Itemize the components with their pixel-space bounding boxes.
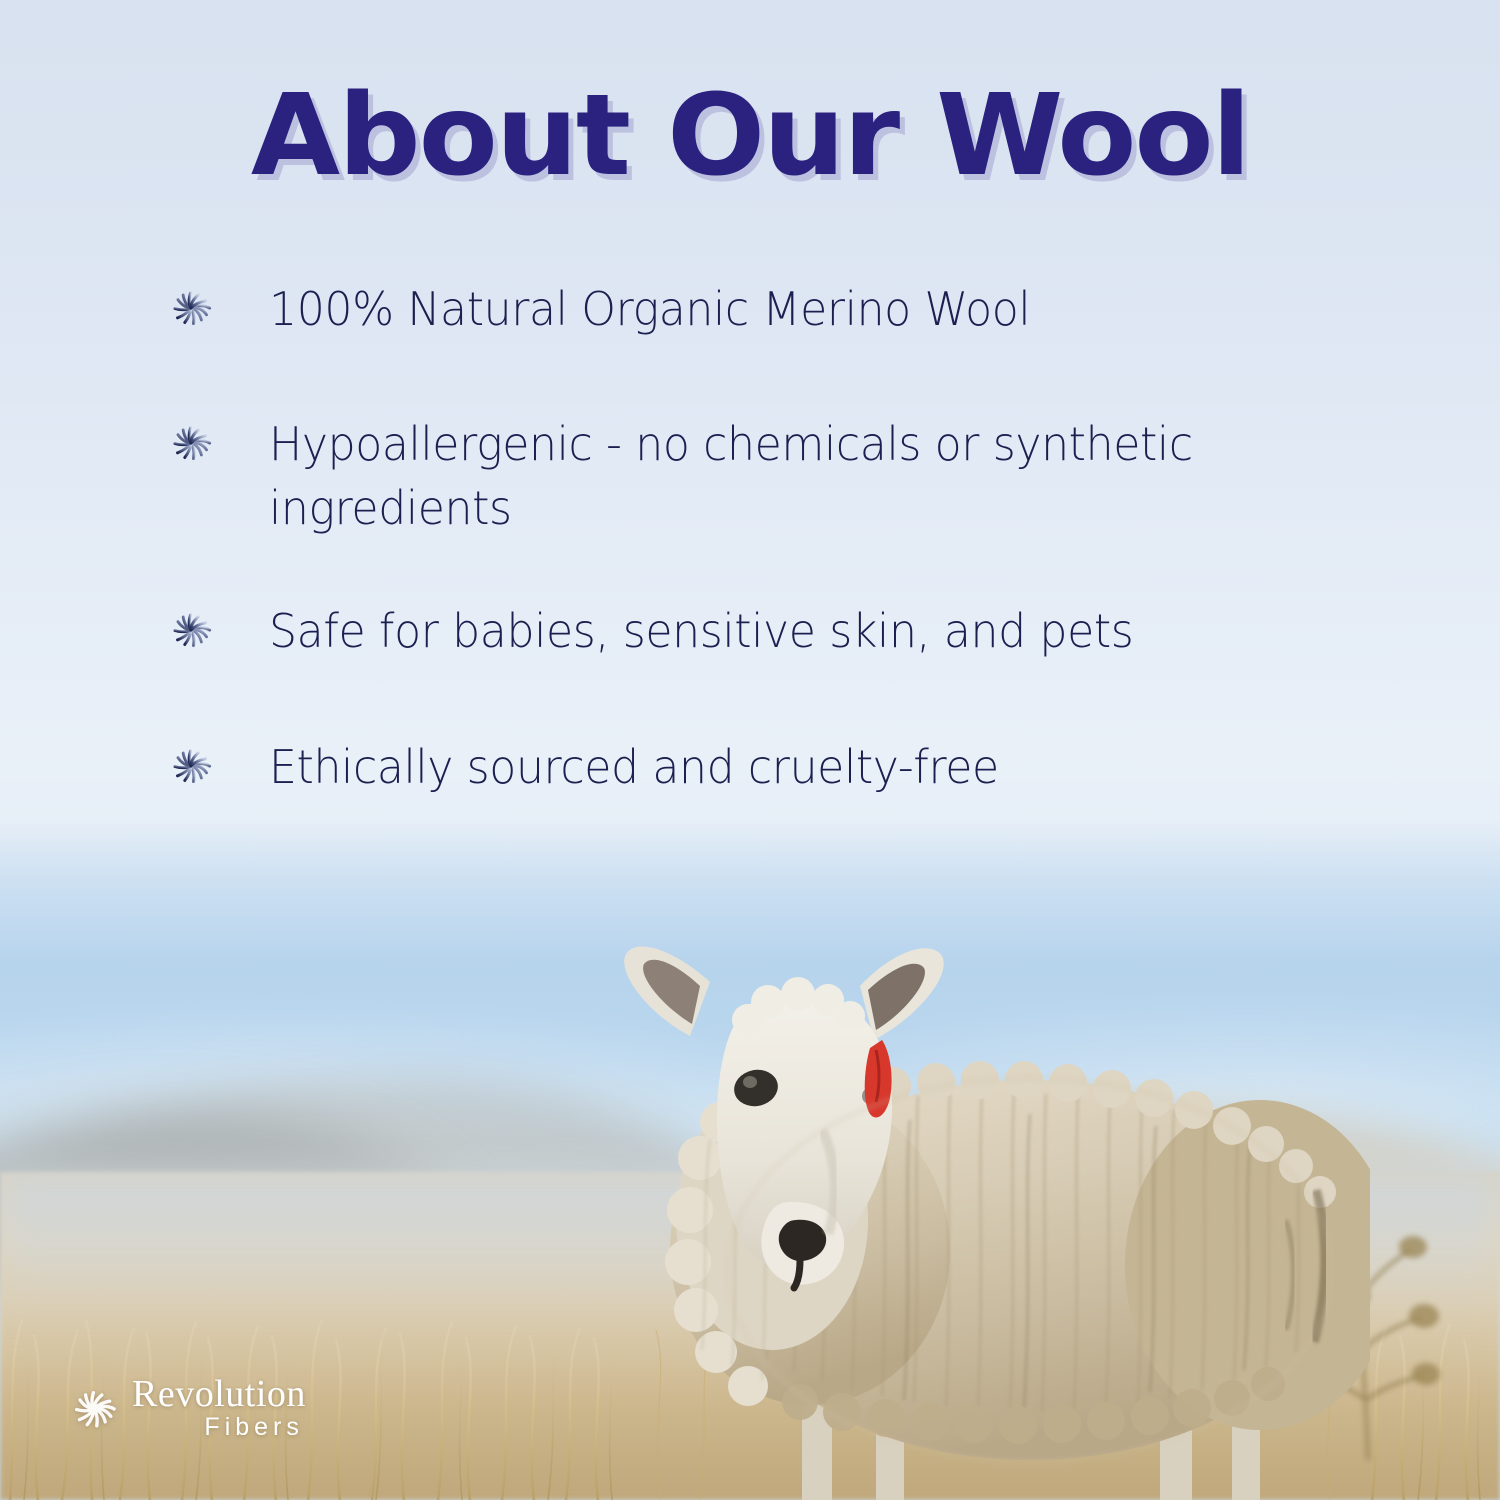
fiber-swirl-icon (165, 282, 217, 334)
brand-logo: Revolution Fibers (66, 1376, 306, 1442)
list-item: Safe for babies, sensitive skin, and pet… (165, 600, 1320, 663)
fiber-swirl-icon (165, 604, 217, 656)
feature-list: 100% Natural Organic Merino Wool (165, 278, 1320, 871)
list-item-label: Hypoallergenic - no chemicals or synthet… (269, 413, 1248, 540)
brand-subname: Fibers (132, 1413, 306, 1442)
list-item: Hypoallergenic - no chemicals or synthet… (165, 413, 1320, 540)
brand-wordmark: Revolution Fibers (132, 1376, 306, 1442)
brand-name: Revolution (132, 1376, 306, 1412)
list-item-label: Ethically sourced and cruelty-free (269, 736, 999, 799)
poster-root: About Our Wool (0, 0, 1500, 1500)
list-item-label: Safe for babies, sensitive skin, and pet… (269, 600, 1133, 663)
list-item: 100% Natural Organic Merino Wool (165, 278, 1320, 341)
fiber-swirl-icon (165, 740, 217, 792)
list-item: Ethically sourced and cruelty-free (165, 736, 1320, 799)
fiber-swirl-icon (165, 417, 217, 469)
fiber-swirl-icon (66, 1381, 122, 1437)
sheep-illustration (560, 890, 1370, 1500)
list-item-label: 100% Natural Organic Merino Wool (269, 278, 1030, 341)
page-title: About Our Wool (0, 78, 1500, 196)
